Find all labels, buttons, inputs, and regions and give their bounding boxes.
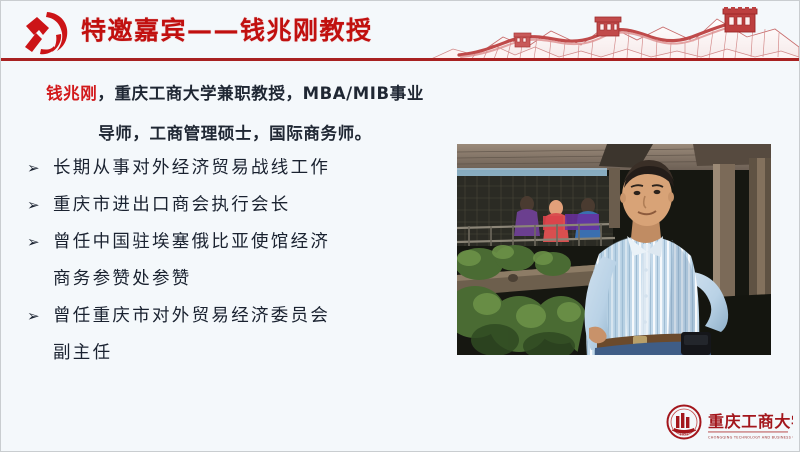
credentials-list: ➢ 长期从事对外经济贸易战线工作 ➢ 重庆市进出口商会执行会长 ➢ 曾任中国驻埃…: [25, 150, 450, 372]
list-item: ➢ 曾任重庆市对外贸易经济委员会: [25, 298, 450, 335]
speaker-name-highlight: 钱兆刚: [46, 84, 97, 103]
list-item-label: 曾任重庆市对外贸易经济委员会: [53, 306, 330, 326]
list-item-label: 重庆市进出口商会执行会长: [53, 195, 291, 215]
arrow-bullet-icon: ➢: [27, 224, 47, 261]
speaker-photo: [457, 144, 771, 355]
slide-body: 钱兆刚，重庆工商大学兼职教授，MBA/MIB事业 导师，工商管理硕士，国际商务师…: [1, 62, 800, 452]
university-logo: 1952 重庆工商大学 CHONGQING TECHNOLOGY AND BUS…: [665, 402, 793, 445]
arrow-bullet-icon: ➢: [27, 298, 47, 335]
arrow-bullet-icon: ➢: [27, 150, 47, 187]
presentation-slide: 特邀嘉宾——钱兆刚教授: [0, 0, 800, 452]
list-item: ➢ 长期从事对外经济贸易战线工作: [25, 150, 450, 187]
list-item-label: 长期从事对外经济贸易战线工作: [53, 158, 330, 178]
university-name-en: CHONGQING TECHNOLOGY AND BUSINESS UNIVER…: [708, 436, 793, 440]
hammer-and-sickle-icon: [17, 8, 75, 58]
list-item-label: 曾任中国驻埃塞俄比亚使馆经济: [53, 232, 330, 252]
speaker-intro-line-2: 导师，工商管理硕士，国际商务师。: [25, 114, 445, 154]
arrow-bullet-icon: ➢: [27, 187, 47, 224]
speaker-intro-paragraph: 钱兆刚，重庆工商大学兼职教授，MBA/MIB事业 导师，工商管理硕士，国际商务师…: [25, 74, 445, 154]
list-item-continuation: 副主任: [25, 335, 450, 372]
svg-text:1952: 1952: [679, 433, 688, 437]
great-wall-illustration: [431, 7, 799, 60]
list-item: ➢ 重庆市进出口商会执行会长: [25, 187, 450, 224]
list-item-continuation: 商务参赞处参赞: [25, 261, 450, 298]
header-divider: [1, 58, 800, 61]
page-title: 特邀嘉宾——钱兆刚教授: [81, 14, 373, 48]
slide-header: 特邀嘉宾——钱兆刚教授: [1, 1, 800, 62]
university-name-cn: 重庆工商大学: [708, 412, 793, 431]
speaker-intro-line-1: ，重庆工商大学兼职教授，MBA/MIB事业: [97, 84, 424, 103]
list-item: ➢ 曾任中国驻埃塞俄比亚使馆经济: [25, 224, 450, 261]
